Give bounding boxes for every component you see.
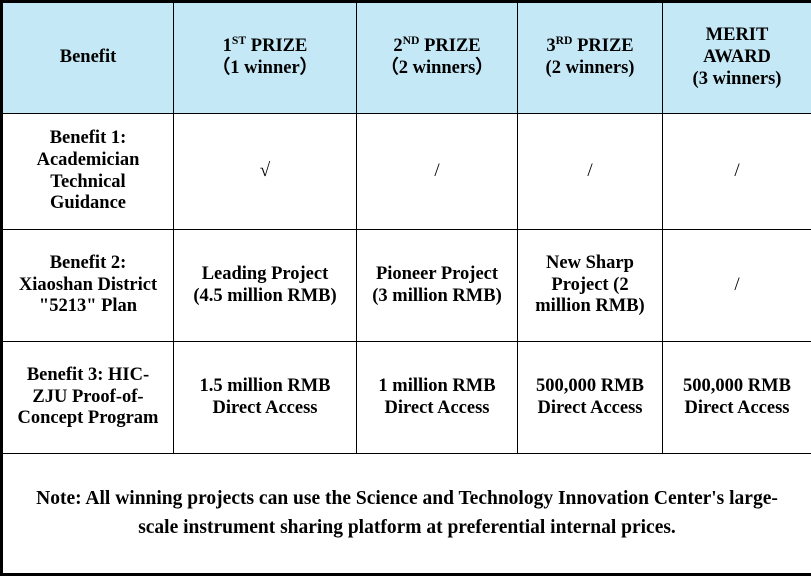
benefit-2-merit-award-value: / — [663, 230, 811, 342]
benefit-3-first-prize-value: 1.5 million RMB Direct Access — [174, 342, 357, 454]
benefit-2-third-prize-line2: Project (2 — [524, 275, 656, 297]
benefit-2-first-prize-value: Leading Project (4.5 million RMB) — [174, 230, 357, 342]
table-note-row: Note: All winning projects can use the S… — [2, 454, 811, 575]
benefit-2-first-prize-line1: Leading Project — [180, 264, 350, 286]
column-header-benefit: Benefit — [2, 2, 174, 114]
checkmark-icon: √ — [180, 160, 350, 182]
column-header-third-prize-winners: (2 winners) — [524, 58, 656, 80]
column-header-benefit-label: Benefit — [9, 47, 167, 69]
column-header-second-prize: 2ND PRIZE （2 winners） — [357, 2, 518, 114]
benefit-1-name-line4: Guidance — [9, 193, 167, 215]
benefit-2-first-prize-line2: (4.5 million RMB) — [180, 286, 350, 308]
third-prize-ordinal-number: 3 — [546, 36, 555, 56]
benefit-1-merit-award-value: / — [663, 114, 811, 230]
benefit-3-name-line2: ZJU Proof-of- — [9, 387, 167, 409]
table-row-benefit-3: Benefit 3: HIC- ZJU Proof-of- Concept Pr… — [2, 342, 811, 454]
column-header-third-prize: 3RD PRIZE (2 winners) — [518, 2, 663, 114]
column-header-second-prize-winners: （2 winners） — [363, 58, 511, 80]
benefit-2-third-prize-line3: million RMB) — [524, 296, 656, 318]
third-prize-ordinal-suffix: RD — [556, 34, 573, 47]
column-header-second-prize-title: 2ND PRIZE — [363, 36, 511, 58]
table-row-benefit-1: Benefit 1: Academician Technical Guidanc… — [2, 114, 811, 230]
column-header-merit-award-winners: (3 winners) — [669, 69, 805, 91]
first-prize-ordinal-number: 1 — [223, 36, 232, 56]
benefit-2-second-prize-line1: Pioneer Project — [363, 264, 511, 286]
benefits-comparison-table: Benefit 1ST PRIZE （1 winner） 2ND PRIZE （… — [0, 0, 811, 576]
benefit-3-first-prize-line1: 1.5 million RMB — [180, 376, 350, 398]
benefit-1-name-line2: Academician — [9, 150, 167, 172]
benefit-2-third-prize-value: New Sharp Project (2 million RMB) — [518, 230, 663, 342]
benefit-1-second-prize-value: / — [357, 114, 518, 230]
table-row-benefit-2: Benefit 2: Xiaoshan District "5213" Plan… — [2, 230, 811, 342]
second-prize-ordinal-suffix: ND — [403, 34, 420, 47]
slash-icon: / — [669, 274, 805, 296]
benefit-2-name-cell: Benefit 2: Xiaoshan District "5213" Plan — [2, 230, 174, 342]
benefit-3-second-prize-line1: 1 million RMB — [363, 376, 511, 398]
benefit-3-merit-award-line1: 500,000 RMB — [669, 376, 805, 398]
benefit-3-third-prize-value: 500,000 RMB Direct Access — [518, 342, 663, 454]
first-prize-ordinal-suffix: ST — [232, 34, 246, 47]
benefit-2-second-prize-line2: (3 million RMB) — [363, 286, 511, 308]
benefit-1-name-cell: Benefit 1: Academician Technical Guidanc… — [2, 114, 174, 230]
slash-icon: / — [524, 160, 656, 182]
third-prize-word: PRIZE — [572, 36, 633, 56]
column-header-merit-award-line1: MERIT — [669, 25, 805, 47]
benefit-3-second-prize-value: 1 million RMB Direct Access — [357, 342, 518, 454]
benefit-2-second-prize-value: Pioneer Project (3 million RMB) — [357, 230, 518, 342]
benefit-3-name-line1: Benefit 3: HIC- — [9, 365, 167, 387]
table-header-row: Benefit 1ST PRIZE （1 winner） 2ND PRIZE （… — [2, 2, 811, 114]
second-prize-word: PRIZE — [419, 36, 480, 56]
benefit-3-merit-award-value: 500,000 RMB Direct Access — [663, 342, 811, 454]
column-header-first-prize-title: 1ST PRIZE — [180, 36, 350, 58]
benefit-1-name-line3: Technical — [9, 172, 167, 194]
benefit-2-third-prize-line1: New Sharp — [524, 253, 656, 275]
benefit-2-name-line2: Xiaoshan District — [9, 275, 167, 297]
column-header-merit-award-line2: AWARD — [669, 47, 805, 69]
benefit-2-name-line1: Benefit 2: — [9, 253, 167, 275]
benefit-3-third-prize-line1: 500,000 RMB — [524, 376, 656, 398]
benefit-1-third-prize-value: / — [518, 114, 663, 230]
benefit-3-name-line3: Concept Program — [9, 408, 167, 430]
benefit-1-name-line1: Benefit 1: — [9, 128, 167, 150]
table-note: Note: All winning projects can use the S… — [2, 454, 811, 575]
column-header-third-prize-title: 3RD PRIZE — [524, 36, 656, 58]
slash-icon: / — [669, 160, 805, 182]
slash-icon: / — [363, 160, 511, 182]
benefit-3-merit-award-line2: Direct Access — [669, 398, 805, 420]
benefit-3-second-prize-line2: Direct Access — [363, 398, 511, 420]
benefit-1-first-prize-value: √ — [174, 114, 357, 230]
column-header-merit-award: MERIT AWARD (3 winners) — [663, 2, 811, 114]
column-header-first-prize-winners: （1 winner） — [180, 58, 350, 80]
table-body: Benefit 1: Academician Technical Guidanc… — [2, 114, 811, 575]
benefit-3-first-prize-line2: Direct Access — [180, 398, 350, 420]
benefit-2-name-line3: "5213" Plan — [9, 296, 167, 318]
first-prize-word: PRIZE — [246, 36, 307, 56]
benefit-3-third-prize-line2: Direct Access — [524, 398, 656, 420]
second-prize-ordinal-number: 2 — [393, 36, 402, 56]
table-header: Benefit 1ST PRIZE （1 winner） 2ND PRIZE （… — [2, 2, 811, 114]
column-header-first-prize: 1ST PRIZE （1 winner） — [174, 2, 357, 114]
benefit-3-name-cell: Benefit 3: HIC- ZJU Proof-of- Concept Pr… — [2, 342, 174, 454]
